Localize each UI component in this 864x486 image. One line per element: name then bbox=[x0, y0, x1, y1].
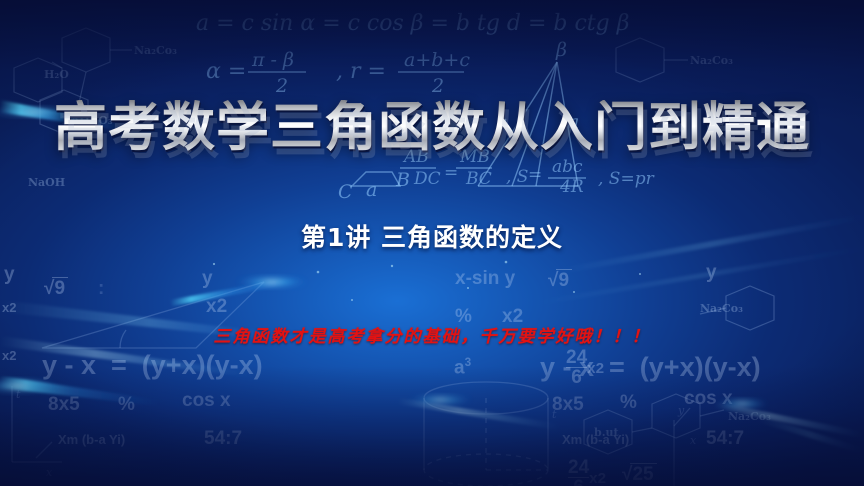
slide-canvas: Na₂Co₃ H₂O NaHCO₃ NaOH Na₂Co₃ Na₂Co₃ b.u… bbox=[0, 0, 864, 486]
main-title: 高考数学三角函数从入门到精通 bbox=[54, 100, 810, 156]
slogan-text: 三角函数才是高考拿分的基础，千万要学好哦！！！ bbox=[214, 322, 651, 347]
slogan-block: 三角函数才是高考拿分的基础，千万要学好哦！！！ bbox=[0, 322, 864, 347]
subtitle: 第1讲 三角函数的定义 bbox=[301, 218, 563, 254]
title-block: 高考数学三角函数从入门到精通 高考数学三角函数从入门到精通 bbox=[0, 100, 864, 156]
subtitle-block: 第1讲 三角函数的定义 bbox=[0, 218, 864, 254]
